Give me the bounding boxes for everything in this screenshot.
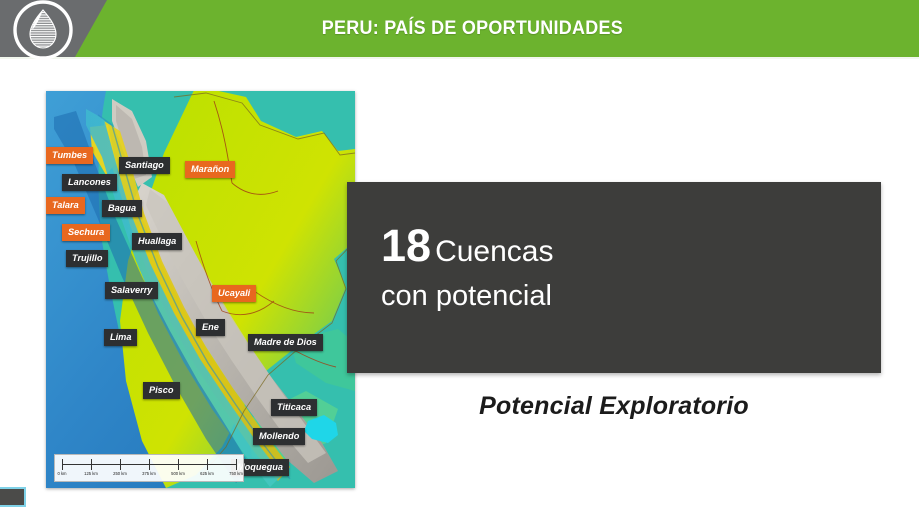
potential-basin-count: 18 xyxy=(381,220,431,271)
map-label-salaverry[interactable]: Salaverry xyxy=(105,282,158,299)
map-label-santiago[interactable]: Santiago xyxy=(119,157,170,174)
potential-basin-unit: Cuencas xyxy=(435,235,553,268)
scalebar-tick-label: 375 km xyxy=(142,471,156,476)
map-label-bagua[interactable]: Bagua xyxy=(102,200,142,217)
scalebar-tick-label: 750 km xyxy=(229,471,243,476)
header-underline xyxy=(0,57,919,59)
scalebar-tick-label: 500 km xyxy=(171,471,185,476)
company-droplet-globe-logo-icon xyxy=(12,0,74,60)
scalebar-tick-mark xyxy=(91,459,92,470)
map-label-huallaga[interactable]: Huallaga xyxy=(132,233,182,250)
map-label-marañon[interactable]: Marañon xyxy=(185,161,235,178)
map-label-lima[interactable]: Lima xyxy=(104,329,137,346)
scalebar-tick-label: 0 km xyxy=(57,471,66,476)
scalebar-tick-mark xyxy=(149,459,150,470)
scalebar-tick-mark xyxy=(236,459,237,470)
map-label-trujillo[interactable]: Trujillo xyxy=(66,250,108,267)
corner-accent-chip xyxy=(0,487,26,507)
scalebar-tick-label: 625 km xyxy=(200,471,214,476)
map-label-mollendo[interactable]: Mollendo xyxy=(253,428,305,445)
map-label-sechura[interactable]: Sechura xyxy=(62,224,110,241)
map-scalebar: 0 km125 km250 km375 km500 km625 km750 km xyxy=(54,454,244,482)
map-label-madre-de-dios[interactable]: Madre de Dios xyxy=(248,334,323,351)
page-title: PERU: PAÍS DE OPORTUNIDADES xyxy=(37,0,882,57)
statistics-panel: 18Cuencas con potencial Y solo 5estan pr… xyxy=(347,182,881,373)
slide-caption: Potencial Exploratorio xyxy=(347,392,881,421)
map-label-talara[interactable]: Talara xyxy=(46,197,85,214)
map-label-lancones[interactable]: Lancones xyxy=(62,174,117,191)
scalebar-tick-mark xyxy=(120,459,121,470)
map-label-tumbes[interactable]: Tumbes xyxy=(46,147,93,164)
slide-header-bar: PERU: PAÍS DE OPORTUNIDADES xyxy=(0,0,919,57)
scalebar-tick-label: 250 km xyxy=(113,471,127,476)
scalebar-tick-mark xyxy=(62,459,63,470)
map-label-pisco[interactable]: Pisco xyxy=(143,382,180,399)
map-label-ene[interactable]: Ene xyxy=(196,319,225,336)
potential-basin-subtitle: con potencial xyxy=(381,277,553,315)
scalebar-tick-label: 125 km xyxy=(84,471,98,476)
stat-block-potential: 18Cuencas con potencial xyxy=(381,221,553,315)
scalebar-tick-mark xyxy=(207,459,208,470)
scalebar-tick-mark xyxy=(178,459,179,470)
peru-relief-map[interactable]: TumbesSantiagoMarañonLanconesTalaraBagua… xyxy=(46,91,355,488)
map-label-ucayali[interactable]: Ucayali xyxy=(212,285,256,302)
map-label-titicaca[interactable]: Titicaca xyxy=(271,399,317,416)
